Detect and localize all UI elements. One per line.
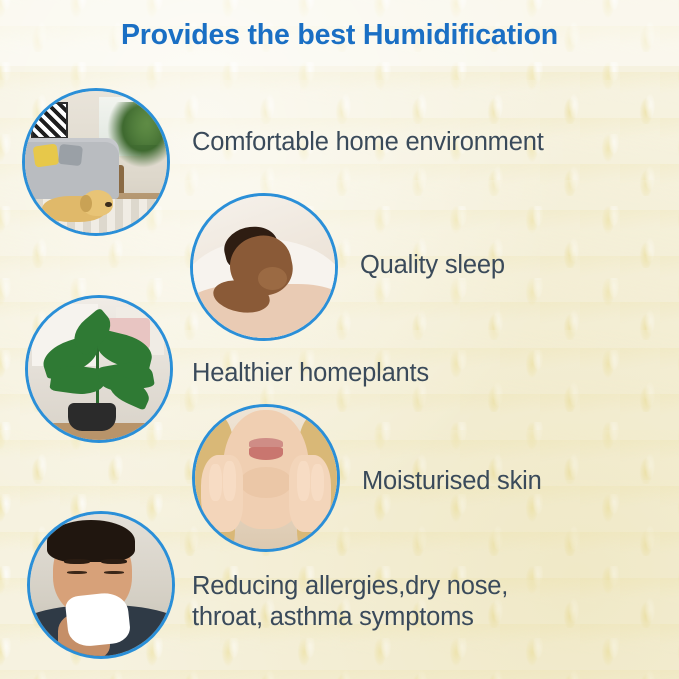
benefit-caption-quality-sleep: Quality sleep: [360, 250, 660, 281]
benefit-caption-reducing-allergies: Reducing allergies,dry nose, throat, ast…: [192, 571, 662, 633]
benefit-caption-moisturised-skin: Moisturised skin: [362, 466, 662, 497]
benefit-caption-comfortable-home-environment: Comfortable home environment: [192, 127, 672, 158]
sleeping-baby-photo: [190, 193, 338, 341]
humidifier-benefits-poster: Provides the best Humidification Comfort…: [0, 0, 679, 679]
man-sneezing-photo: [27, 511, 175, 659]
woman-touching-face-photo: [192, 404, 340, 552]
benefit-caption-healthier-homeplants: Healthier homeplants: [192, 358, 612, 389]
houseplant-photo: [25, 295, 173, 443]
living-room-with-dog-photo: [22, 88, 170, 236]
page-title: Provides the best Humidification: [0, 19, 679, 52]
